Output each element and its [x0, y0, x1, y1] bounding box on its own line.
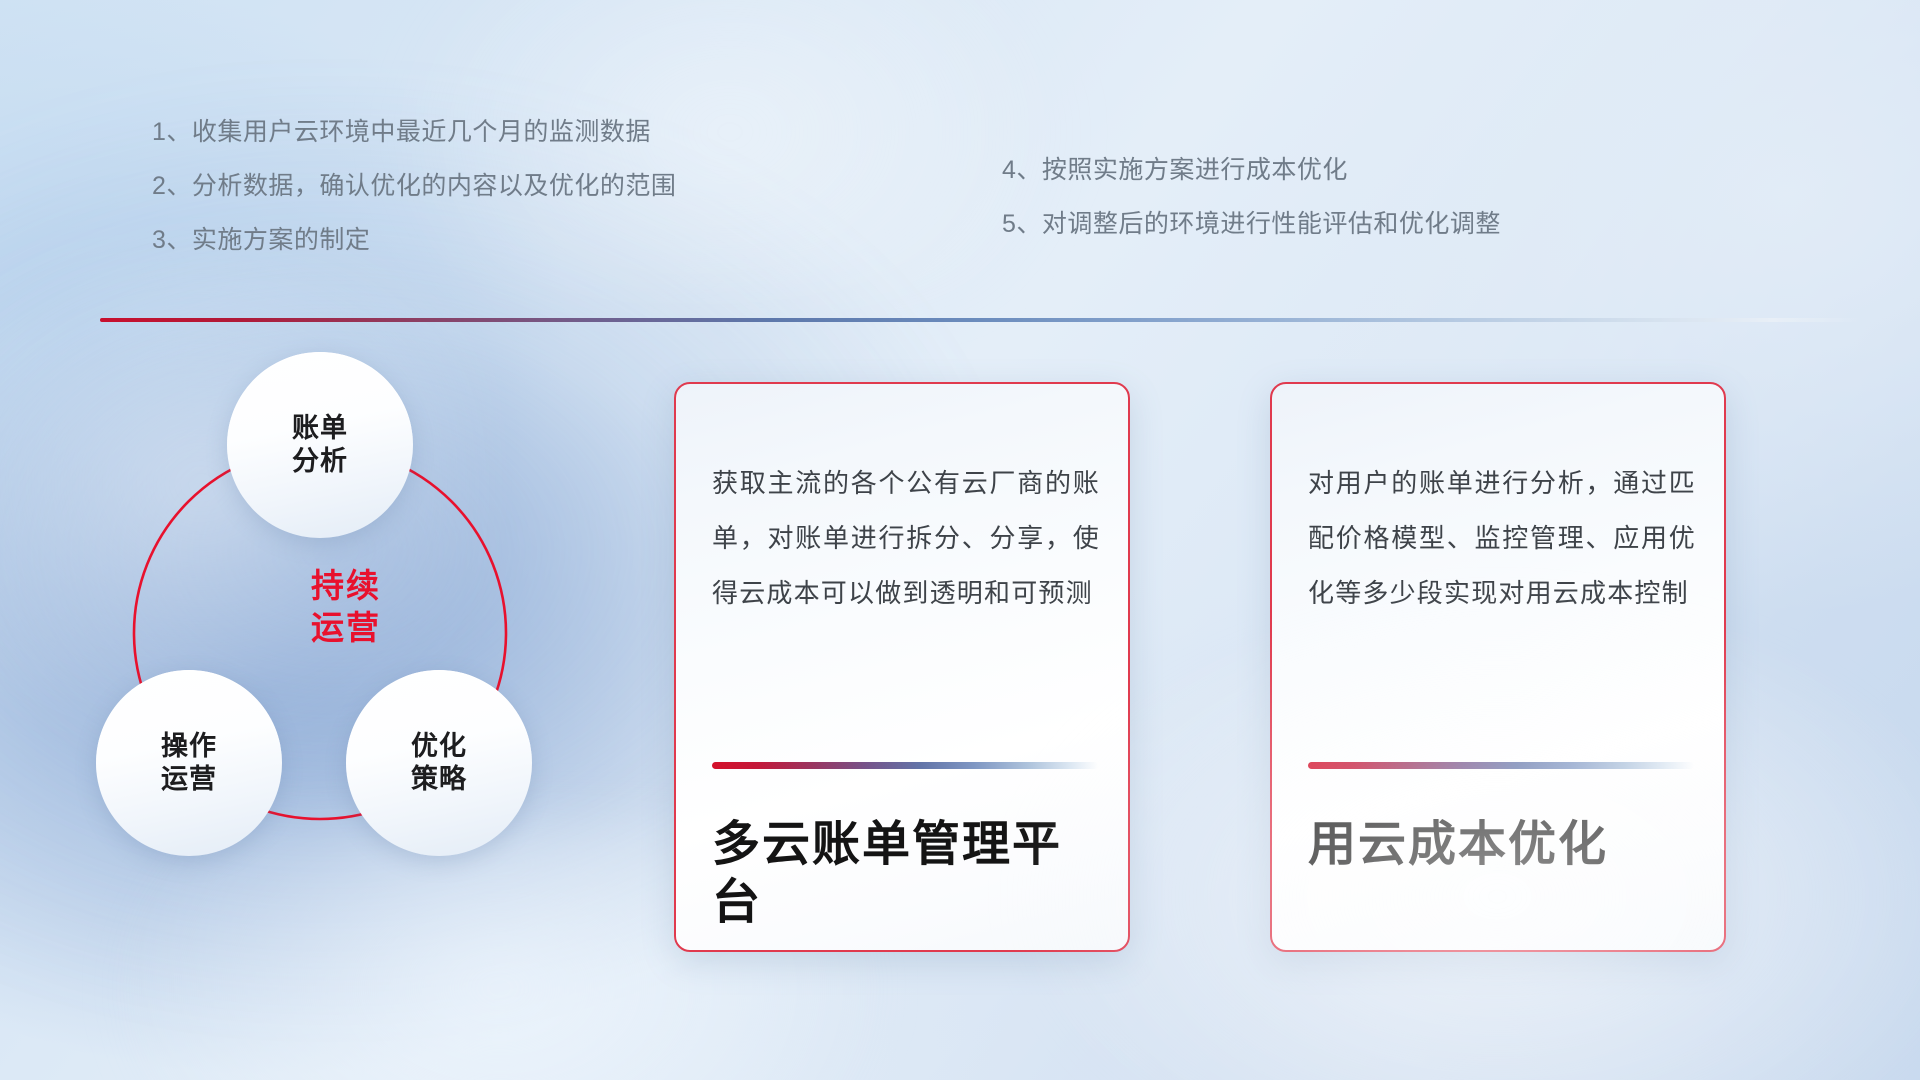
diagram-node-bill-analysis-line2: 分析 [292, 445, 348, 478]
diagram-node-bill-analysis[interactable]: 账单 分析 [227, 352, 413, 538]
diagram-node-operations-line1: 操作 [161, 730, 217, 763]
card-multi-cloud-billing-rule [712, 762, 1098, 769]
section-divider [100, 318, 1860, 322]
diagram-node-bill-analysis-line1: 账单 [292, 412, 348, 445]
card-multi-cloud-billing-body: 获取主流的各个公有云厂商的账单，对账单进行拆分、分享，使得云成本可以做到透明和可… [712, 456, 1100, 621]
slide-canvas: 1、收集用户云环境中最近几个月的监测数据 2、分析数据，确认优化的内容以及优化的… [0, 0, 1920, 1080]
step-item-2: 2、分析数据，确认优化的内容以及优化的范围 [152, 174, 676, 199]
step-item-1: 1、收集用户云环境中最近几个月的监测数据 [152, 120, 676, 145]
step-item-4: 4、按照实施方案进行成本优化 [1002, 158, 1501, 183]
steps-right-column: 4、按照实施方案进行成本优化 5、对调整后的环境进行性能评估和优化调整 [1002, 158, 1501, 266]
diagram-node-optimization-strategy[interactable]: 优化 策略 [346, 670, 532, 856]
diagram-node-optimization-strategy-line1: 优化 [411, 730, 467, 763]
steps-left-column: 1、收集用户云环境中最近几个月的监测数据 2、分析数据，确认优化的内容以及优化的… [152, 120, 676, 282]
card-cloud-cost-optimization-title: 用云成本优化 [1308, 816, 1696, 874]
diagram-node-operations-line2: 运营 [161, 763, 217, 796]
card-cloud-cost-optimization-body: 对用户的账单进行分析，通过匹配价格模型、监控管理、应用优化等多少段实现对用云成本… [1308, 456, 1696, 621]
card-cloud-cost-optimization-rule [1308, 762, 1694, 769]
step-item-3: 3、实施方案的制定 [152, 228, 676, 253]
card-multi-cloud-billing-title: 多云账单管理平台 [712, 816, 1100, 931]
diagram-node-operations[interactable]: 操作 运营 [96, 670, 282, 856]
diagram-center-label-line2: 运营 [246, 607, 446, 649]
step-item-5: 5、对调整后的环境进行性能评估和优化调整 [1002, 212, 1501, 237]
card-multi-cloud-billing[interactable]: 获取主流的各个公有云厂商的账单，对账单进行拆分、分享，使得云成本可以做到透明和可… [674, 382, 1130, 952]
card-cloud-cost-optimization[interactable]: 对用户的账单进行分析，通过匹配价格模型、监控管理、应用优化等多少段实现对用云成本… [1270, 382, 1726, 952]
diagram-center-label: 持续 运营 [246, 565, 446, 648]
diagram-node-optimization-strategy-line2: 策略 [411, 763, 467, 796]
diagram-center-label-line1: 持续 [246, 565, 446, 607]
cycle-diagram: 账单 分析 操作 运营 优化 策略 持续 运营 [96, 352, 626, 932]
